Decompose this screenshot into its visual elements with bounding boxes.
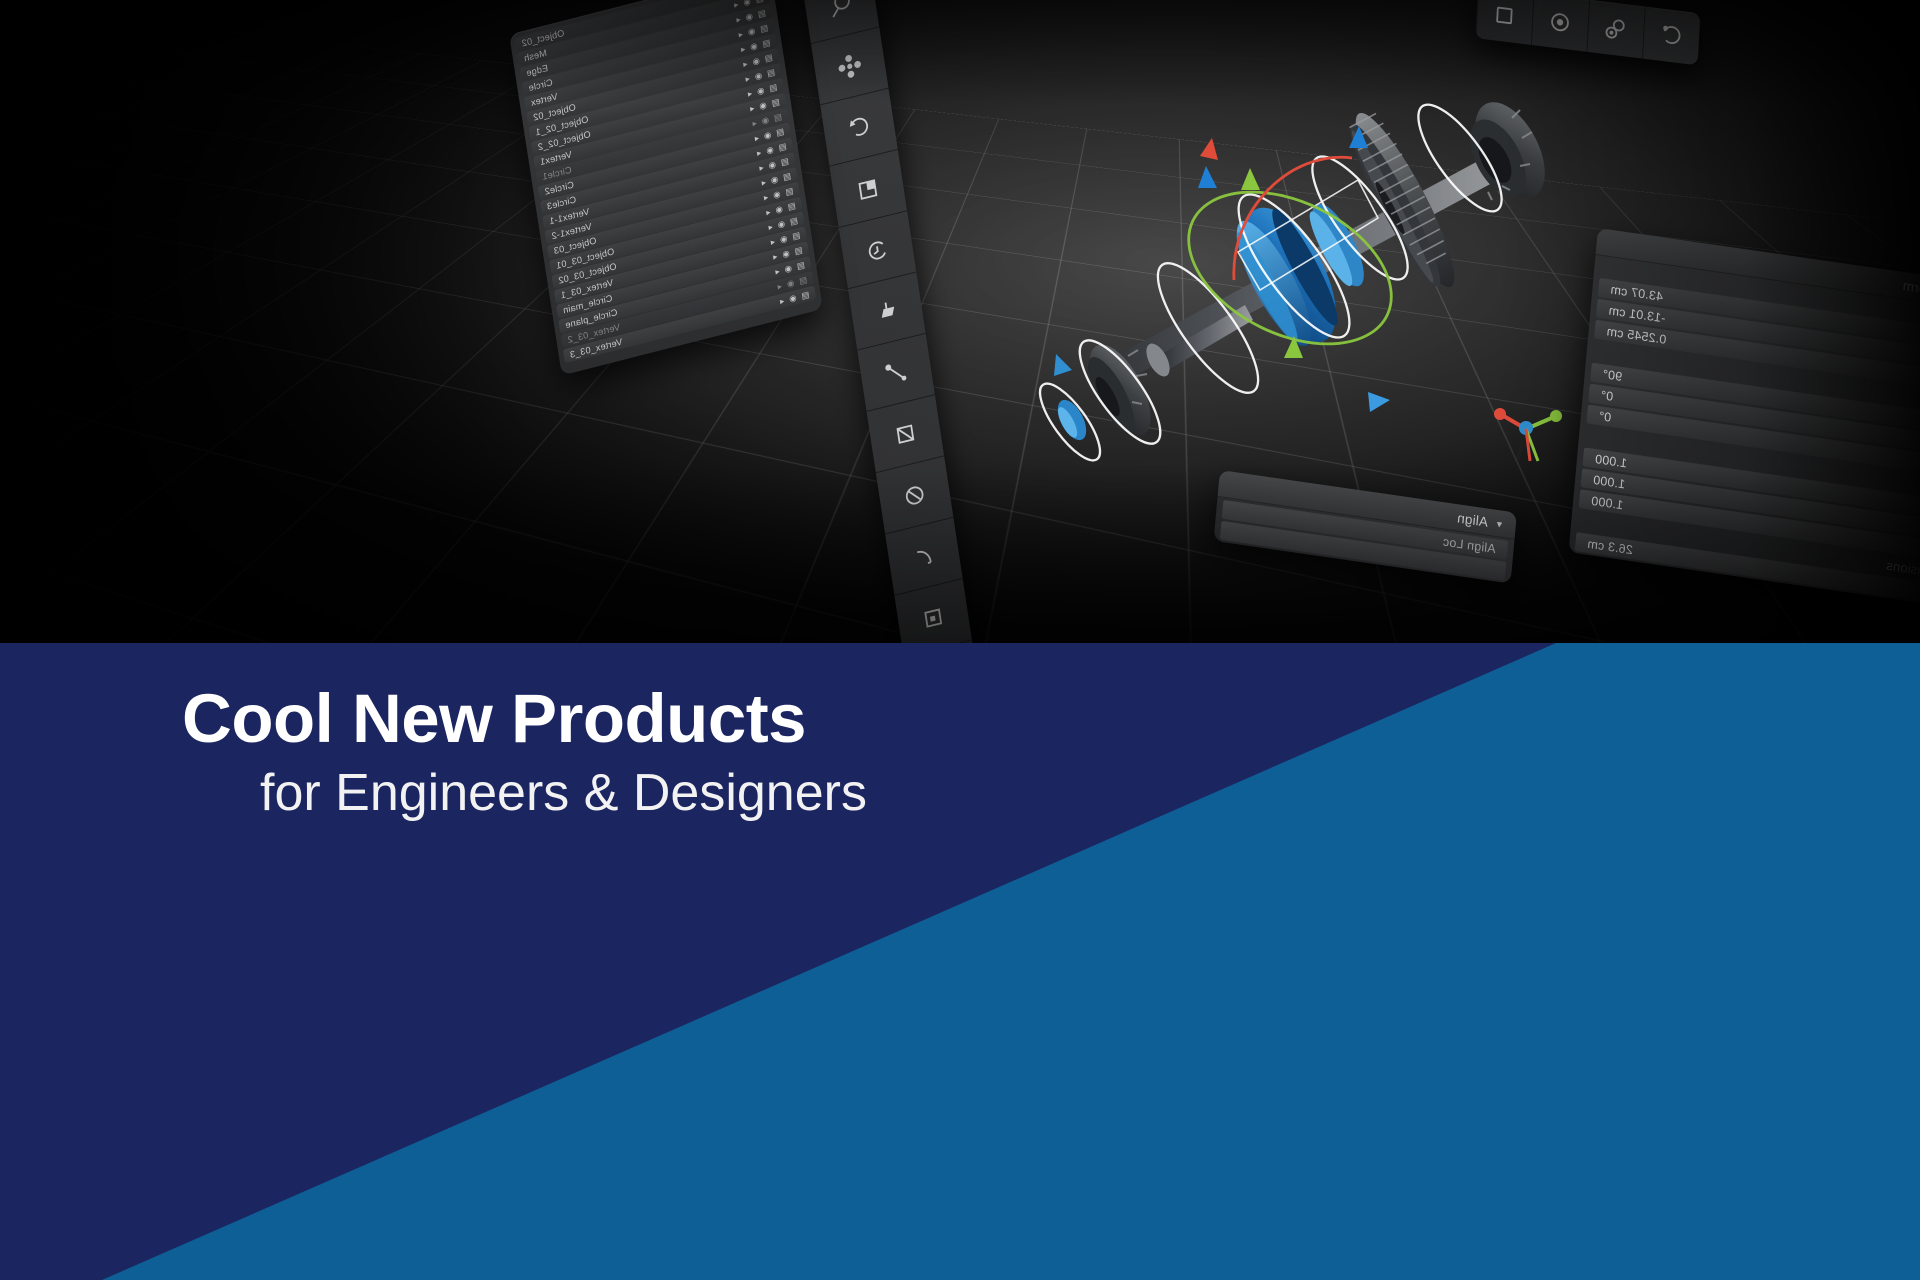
eye-icon[interactable]: ◉ xyxy=(777,218,786,231)
chevron-right-icon[interactable]: ◂ xyxy=(779,295,785,307)
field-value: 0° xyxy=(1598,409,1612,425)
box-icon: ▤ xyxy=(761,36,771,49)
field-value: 26.3 cm xyxy=(1587,537,1634,558)
chevron-right-icon[interactable]: ◂ xyxy=(770,236,776,248)
outliner-panel[interactable]: ▤◉◂Object_02 ▤◉◂Mesh ▤◉◂Edge ▤◉◂Circle ▤… xyxy=(509,0,823,375)
chevron-right-icon[interactable]: ◂ xyxy=(767,221,773,233)
box-icon: ▤ xyxy=(787,200,797,213)
chevron-right-icon[interactable]: ◂ xyxy=(772,250,778,262)
chevron-right-icon[interactable]: ◂ xyxy=(735,13,741,25)
eye-icon[interactable]: ◉ xyxy=(758,99,767,112)
chevron-right-icon[interactable]: ◂ xyxy=(733,0,739,10)
frame-icon[interactable] xyxy=(1475,0,1533,45)
field-value: 1.000 xyxy=(1591,494,1624,513)
chevron-right-icon[interactable]: ◂ xyxy=(777,280,783,292)
eye-icon[interactable]: ◉ xyxy=(754,69,763,82)
eye-icon[interactable]: ◉ xyxy=(761,114,770,127)
eye-icon[interactable]: ◉ xyxy=(774,203,783,216)
eye-icon[interactable]: ◉ xyxy=(768,158,777,171)
box-icon: ▤ xyxy=(791,229,801,242)
eye-icon[interactable]: ◉ xyxy=(751,55,760,68)
field-value: 1.000 xyxy=(1594,452,1627,471)
box-icon: ▤ xyxy=(800,288,810,301)
promo-banner: ▼ Transform Location X 43.07 cm Y -13.01… xyxy=(0,0,1920,1280)
eye-icon[interactable]: ◉ xyxy=(770,173,779,186)
eye-icon[interactable]: ◉ xyxy=(772,188,781,201)
box-icon: ▤ xyxy=(796,259,806,272)
box-icon: ▤ xyxy=(755,0,765,5)
box-icon: ▤ xyxy=(766,66,776,79)
chevron-right-icon[interactable]: ◂ xyxy=(740,43,746,55)
eye-icon[interactable]: ◉ xyxy=(788,292,797,305)
page-subtitle: for Engineers & Designers xyxy=(182,765,867,822)
eye-icon[interactable]: ◉ xyxy=(765,143,774,156)
transform-panel-title: Transform xyxy=(1902,278,1920,302)
box-icon: ▤ xyxy=(757,7,767,20)
eye-icon[interactable]: ◉ xyxy=(747,25,756,38)
chevron-right-icon[interactable]: ◂ xyxy=(742,58,748,70)
box-icon: ▤ xyxy=(773,111,783,124)
box-icon: ▤ xyxy=(789,214,799,227)
eye-icon[interactable]: ◉ xyxy=(742,0,751,8)
eye-icon[interactable]: ◉ xyxy=(784,262,793,275)
box-icon: ▤ xyxy=(780,155,790,168)
transform-panel[interactable]: ▼ Transform Location X 43.07 cm Y -13.01… xyxy=(1569,228,1920,609)
eye-icon[interactable]: ◉ xyxy=(749,40,758,53)
box-icon: ▤ xyxy=(759,22,769,35)
chevron-right-icon[interactable]: ◂ xyxy=(758,161,764,173)
box-icon: ▤ xyxy=(782,170,792,183)
box-icon: ▤ xyxy=(784,185,794,198)
chevron-right-icon[interactable]: ◂ xyxy=(738,28,744,40)
eye-icon[interactable]: ◉ xyxy=(786,277,795,290)
two-circles-icon[interactable] xyxy=(1586,0,1644,59)
box-icon: ▤ xyxy=(778,140,788,153)
eye-icon[interactable]: ◉ xyxy=(781,247,790,260)
eye-icon[interactable]: ◉ xyxy=(779,232,788,245)
eye-icon[interactable]: ◉ xyxy=(745,10,754,23)
page-title: Cool New Products xyxy=(182,683,867,755)
box-icon: ▤ xyxy=(764,51,774,64)
field-value: 90° xyxy=(1602,367,1623,384)
eye-icon[interactable]: ◉ xyxy=(756,84,765,97)
chevron-right-icon[interactable]: ◂ xyxy=(749,102,755,114)
box-icon: ▤ xyxy=(798,274,808,287)
field-value: 0° xyxy=(1600,388,1614,404)
axis-gizmo[interactable] xyxy=(1478,395,1568,465)
align-panel-title: Align xyxy=(1456,510,1488,529)
chevron-right-icon[interactable]: ◂ xyxy=(763,191,769,203)
chevron-right-icon[interactable]: ◂ xyxy=(774,265,780,277)
box-icon: ▤ xyxy=(771,96,781,109)
eye-icon[interactable]: ◉ xyxy=(763,129,772,142)
box-icon: ▤ xyxy=(775,125,785,138)
headline-copy: Cool New Products for Engineers & Design… xyxy=(182,683,867,822)
cad-viewport-image: ▼ Transform Location X 43.07 cm Y -13.01… xyxy=(0,0,1920,646)
chevron-right-icon[interactable]: ◂ xyxy=(745,73,751,85)
box-icon: ▤ xyxy=(768,81,778,94)
target-icon[interactable] xyxy=(1531,0,1589,52)
chevron-right-icon[interactable]: ◂ xyxy=(761,176,767,188)
chevron-right-icon[interactable]: ◂ xyxy=(765,206,771,218)
chevron-right-icon[interactable]: ◂ xyxy=(754,132,760,144)
chevron-right-icon[interactable]: ◂ xyxy=(751,117,757,129)
field-value: 1.000 xyxy=(1592,473,1625,492)
chevron-down-icon: ▼ xyxy=(1494,518,1504,529)
headline-block: Cool New Products for Engineers & Design… xyxy=(0,643,1920,1280)
chevron-right-icon[interactable]: ◂ xyxy=(756,147,762,159)
chevron-right-icon[interactable]: ◂ xyxy=(747,87,753,99)
rotate-icon[interactable] xyxy=(1642,6,1700,65)
box-icon: ▤ xyxy=(794,244,804,257)
